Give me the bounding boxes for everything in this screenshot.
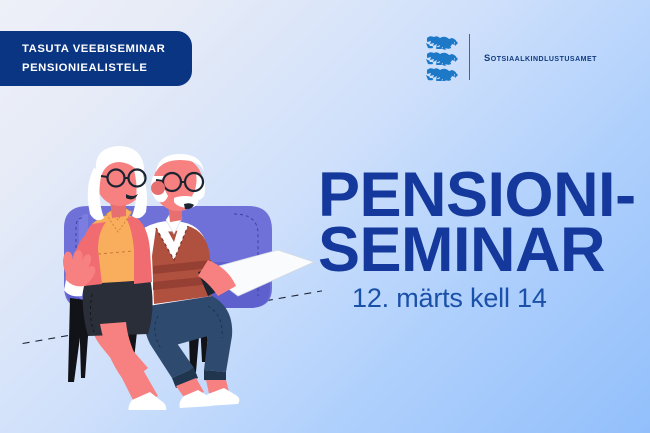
organisation-name: Sotsiaalkindlustusamet bbox=[484, 52, 597, 63]
headline-line-2: SEMINAR bbox=[318, 223, 628, 278]
badge-line-1: TASUTA VEEBISEMINAR bbox=[22, 40, 192, 59]
event-date-time: 12. märts kell 14 bbox=[352, 283, 547, 314]
estonian-coat-of-arms-icon bbox=[424, 34, 460, 81]
woman-figure bbox=[63, 146, 166, 410]
badge-line-2: PENSIONIEALISTELE bbox=[22, 59, 192, 78]
free-webinar-badge: TASUTA VEEBISEMINAR PENSIONIEALISTELE bbox=[0, 31, 192, 86]
webinar-poster: TASUTA VEEBISEMINAR PENSIONIEALISTELE bbox=[0, 0, 650, 433]
elderly-couple-illustration bbox=[22, 110, 322, 410]
page-title: PENSIONI- SEMINAR bbox=[318, 168, 628, 278]
logo-divider bbox=[469, 34, 470, 80]
organisation-logo: Sotsiaalkindlustusamet bbox=[424, 33, 597, 81]
